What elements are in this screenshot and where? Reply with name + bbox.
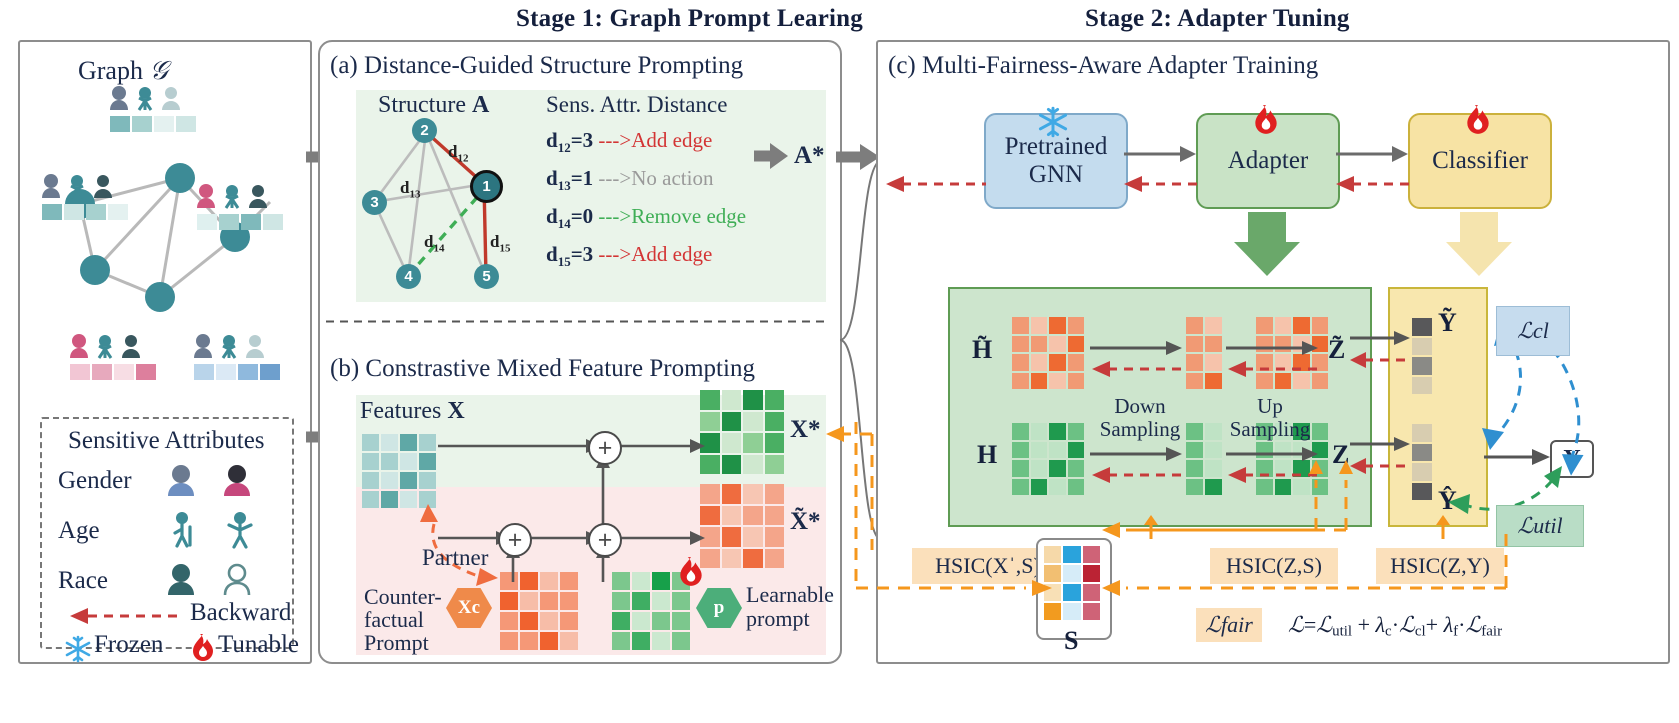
- z-tilde-cell: [1293, 317, 1310, 334]
- orange-arrow-into-yellow: [1136, 515, 1166, 539]
- features-x-cell: [400, 491, 417, 508]
- person-cluster-top: [108, 84, 204, 140]
- h-down-matrix: [1186, 317, 1222, 389]
- edge-label-d15-sub: 15: [499, 242, 510, 254]
- h-tilde-matrix: [1012, 317, 1084, 389]
- x-star-cell: [743, 390, 763, 410]
- edge-label-d13: d13: [400, 178, 420, 200]
- z-tilde-cell: [1256, 373, 1273, 390]
- down-sampling-line1: Down: [1092, 395, 1188, 418]
- adapter-label: Adapter: [1228, 147, 1309, 175]
- features-x-cell: [381, 434, 398, 451]
- tunable-legend-label: Tunable: [218, 631, 299, 659]
- flame-icon-adapter: [1252, 104, 1280, 136]
- rule3-value: =0: [571, 204, 593, 228]
- h-tilde-cell: [1031, 354, 1048, 371]
- rule2-sub: 13: [558, 178, 571, 193]
- legend-box: Sensitive Attributes Gender Age Race: [40, 417, 294, 649]
- z-tilde-cell: [1312, 317, 1329, 334]
- graph-node-3[interactable]: 3: [362, 190, 387, 215]
- h-down-cell: [1205, 317, 1222, 334]
- features-x-cell: [400, 472, 417, 489]
- male-person-icon: [168, 465, 194, 496]
- distance-rule-1: d12=3 --->Add edge: [546, 128, 712, 156]
- features-x-cell: [381, 472, 398, 489]
- distance-rule-2: d13=1 --->No action: [546, 166, 713, 194]
- plus-circle-bottom-right: +: [588, 523, 622, 557]
- section-c-heading: (c) Multi-Fairness-Aware Adapter Trainin…: [888, 52, 1318, 80]
- graph-node-4[interactable]: 4: [396, 264, 421, 289]
- graph-title-symbol: 𝒢: [149, 56, 168, 85]
- h-tilde-cell: [1012, 373, 1029, 390]
- x-star-label: X*: [790, 416, 821, 444]
- z-tilde-cell: [1275, 373, 1292, 390]
- h-down-cell: [1186, 354, 1203, 371]
- rule1-value: =3: [571, 128, 593, 152]
- cf-line3: Prompt: [364, 631, 442, 654]
- legend-title: Sensitive Attributes: [68, 427, 265, 455]
- flame-icon-prompt: [676, 556, 706, 588]
- features-x-cell: [381, 453, 398, 470]
- loss-cl-chip: ℒcl: [1496, 306, 1570, 356]
- h-down-cell: [1205, 373, 1222, 390]
- outline-person-icon: [225, 565, 249, 595]
- up-sampling-line1: Up: [1222, 395, 1318, 418]
- x-star-cell: [700, 390, 720, 410]
- features-x-cell: [400, 434, 417, 451]
- h-tilde-cell: [1049, 373, 1066, 390]
- edge-label-d12: d12: [448, 142, 468, 164]
- person-cluster-left: [40, 172, 136, 228]
- backward-arrow-classifier-adapter: [1336, 172, 1410, 202]
- z-tilde-cell: [1256, 317, 1273, 334]
- x-star-cell: [722, 390, 742, 410]
- frozen-legend-label: Frozen: [94, 631, 163, 659]
- flame-icon-classifier: [1464, 104, 1492, 136]
- plus-circle-top: +: [588, 431, 622, 465]
- partner-label: Partner: [422, 545, 488, 571]
- big-arrow-classifier-down: [1444, 212, 1514, 278]
- rule2-value: =1: [571, 166, 593, 190]
- section-divider: [326, 320, 830, 323]
- arrow-to-a-star: [754, 140, 790, 172]
- legend-row-race-label: Race: [58, 567, 108, 595]
- distance-heading: Sens. Attr. Distance: [546, 92, 727, 118]
- up-sampling-arrow-top: [1226, 340, 1320, 374]
- h-tilde-cell: [1031, 373, 1048, 390]
- h-tilde-cell: [1068, 373, 1085, 390]
- features-x-cell: [362, 434, 379, 451]
- rule4-action: Add edge: [631, 242, 712, 266]
- orange-arrow-into-classifier-zone: [1428, 515, 1458, 539]
- features-x-cell: [362, 472, 379, 489]
- h-tilde-label: H̃: [972, 335, 992, 365]
- z-tilde-cell: [1275, 317, 1292, 334]
- h-tilde-cell: [1049, 354, 1066, 371]
- big-arrow-adapter-down: [1232, 212, 1302, 278]
- snowflake-icon: [64, 635, 92, 663]
- learnable-label: Learnable prompt: [746, 583, 834, 631]
- down-sampling-arrow-top: [1090, 340, 1184, 374]
- graph-node-1[interactable]: 1: [470, 170, 503, 203]
- age-icons: [166, 511, 276, 549]
- h-tilde-cell: [1049, 317, 1066, 334]
- h-tilde-cell: [1012, 354, 1029, 371]
- h-tilde-cell: [1031, 317, 1048, 334]
- distance-rule-4: d15=3 --->Add edge: [546, 242, 712, 270]
- edge-label-d14: d14: [424, 232, 444, 254]
- h-down-cell: [1186, 317, 1203, 334]
- h-tilde-cell: [1012, 336, 1029, 353]
- rule2-action: No action: [631, 166, 713, 190]
- graph-panel: Graph 𝒢: [18, 40, 312, 664]
- features-x-cell: [362, 453, 379, 470]
- arrow-ztilde-ytilde: [1350, 330, 1414, 364]
- edge-label-d15: d15: [490, 232, 510, 254]
- child-person-icon: [229, 512, 251, 547]
- edge-label-d13-sub: 13: [409, 188, 420, 200]
- features-x-cell: [381, 491, 398, 508]
- section-a-heading: (a) Distance-Guided Structure Prompting: [330, 52, 743, 80]
- a-star-label: A*: [794, 142, 825, 170]
- learnable-badge-text: p: [714, 597, 725, 619]
- snowflake-icon-gnn: [1036, 106, 1070, 138]
- x-star-feedback: [820, 430, 880, 590]
- features-x-cell: [419, 434, 436, 451]
- section-b-heading: (b) Constrastive Mixed Feature Prompting: [330, 355, 755, 383]
- z-tilde-cell: [1312, 373, 1329, 390]
- h-down-cell: [1205, 354, 1222, 371]
- h-tilde-cell: [1012, 317, 1029, 334]
- cf-line2: factual: [364, 608, 442, 631]
- rule3-sub: 14: [558, 216, 571, 231]
- learn-line2: prompt: [746, 607, 834, 631]
- h-tilde-cell: [1068, 336, 1085, 353]
- cf-line1: Counter-: [364, 585, 442, 608]
- x-tilde-star-label: X̃*: [790, 508, 821, 536]
- female-person-icon: [224, 465, 250, 496]
- filled-person-icon: [168, 564, 194, 595]
- rule3-action: Remove edge: [631, 204, 746, 228]
- graph-title-text: Graph: [78, 56, 143, 85]
- z-tilde-label: Z̃: [1328, 335, 1345, 365]
- flame-icon: [190, 633, 216, 663]
- legend-row-age-label: Age: [58, 517, 100, 545]
- rule2-arrow: --->: [598, 166, 631, 190]
- counterfactual-label: Counter- factual Prompt: [364, 585, 442, 654]
- features-x-cell: [419, 453, 436, 470]
- features-x-matrix: [362, 434, 436, 508]
- rule4-sub: 15: [558, 254, 571, 269]
- h-down-cell: [1205, 336, 1222, 353]
- pretrained-gnn-line2: GNN: [1005, 161, 1108, 189]
- classifier-label: Classifier: [1432, 147, 1528, 175]
- x-star-cell: [765, 390, 785, 410]
- features-x-cell: [419, 472, 436, 489]
- race-icons: [164, 563, 274, 597]
- legend-row-gender-label: Gender: [58, 467, 132, 495]
- edge-label-d14-sub: 14: [433, 242, 444, 254]
- h-tilde-cell: [1049, 336, 1066, 353]
- distance-rule-3: d14=0 --->Remove edge: [546, 204, 746, 232]
- h-tilde-cell: [1068, 354, 1085, 371]
- rule3-arrow: --->: [598, 204, 631, 228]
- features-label-text: Features: [360, 398, 441, 424]
- h-down-cell: [1186, 373, 1203, 390]
- z-tilde-cell: [1293, 373, 1310, 390]
- gender-icons: [164, 463, 274, 497]
- hsic-routing: [846, 420, 1666, 640]
- rule4-arrow: --->: [598, 242, 631, 266]
- backward-arrow-out-of-stage2: [886, 172, 986, 202]
- h-down-cell: [1186, 336, 1203, 353]
- stage2-title: Stage 2: Adapter Tuning: [1085, 5, 1350, 33]
- graph-node-2[interactable]: 2: [412, 118, 437, 143]
- person-cluster-bottom-right: [192, 332, 288, 388]
- rule1-arrow: --->: [598, 128, 631, 152]
- h-tilde-cell: [1031, 336, 1048, 353]
- rule1-sub: 12: [558, 140, 571, 155]
- features-x-cell: [400, 453, 417, 470]
- edge-label-d12-sub: 12: [457, 152, 468, 164]
- elderly-person-icon: [175, 512, 190, 546]
- h-tilde-cell: [1068, 317, 1085, 334]
- person-cluster-right: [195, 182, 291, 238]
- loss-cl-label: ℒcl: [1517, 318, 1549, 344]
- rule4-value: =3: [571, 242, 593, 266]
- backward-legend-label: Backward: [190, 599, 291, 627]
- counterfactual-badge-text: Xc: [458, 597, 480, 619]
- backward-arrow-adapter-gnn: [1124, 172, 1198, 202]
- features-x-cell: [362, 491, 379, 508]
- total-loss-equation: ℒ=ℒutil + λc·ℒcl+ λf·ℒfair: [1288, 612, 1502, 641]
- rule1-action: Add edge: [631, 128, 712, 152]
- graph-node-5[interactable]: 5: [474, 264, 499, 289]
- backward-arrow-legend-icon: [68, 607, 180, 625]
- stage1-title: Stage 1: Graph Prompt Learing: [516, 5, 863, 33]
- person-cluster-bottom-left: [68, 332, 164, 388]
